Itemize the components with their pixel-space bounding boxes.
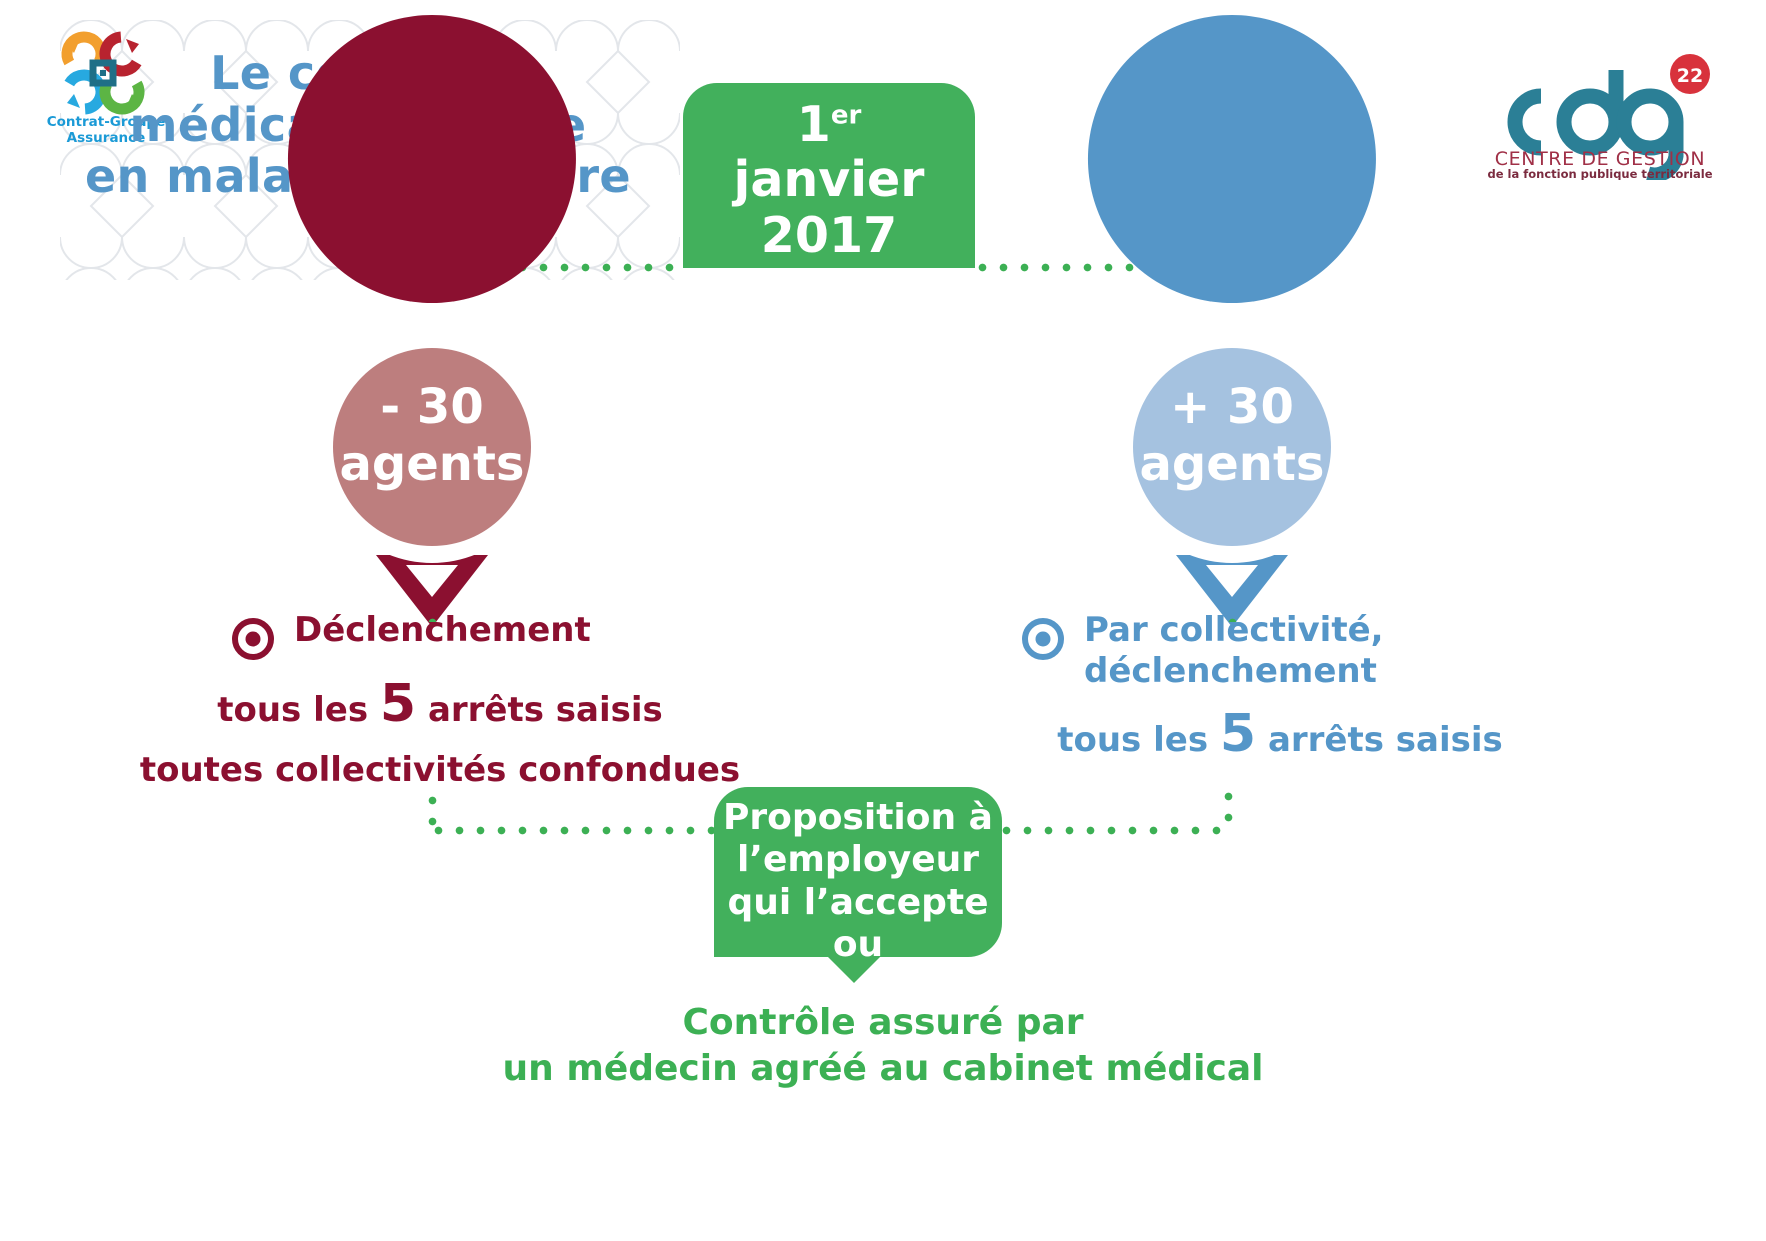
bullet-heading-right: Par collectivité, déclenchement (1084, 610, 1384, 692)
rule-suffix-left: arrêts saisis (428, 690, 663, 730)
date-year: 2017 (683, 208, 975, 263)
branch-detail-right: Par collectivité, déclenchement tous les… (960, 610, 1600, 762)
date-month: janvier (683, 152, 975, 207)
connector-bottom-right (996, 826, 1232, 835)
rule-note-left: toutes collectivités confondues (120, 749, 760, 793)
rule-suffix-right: arrêts saisis (1268, 720, 1503, 760)
proposition-callout-box: Proposition à l’employeur qui l’accepte … (714, 787, 1002, 957)
rule-prefix-right: tous les (1057, 720, 1208, 760)
cdg22-logo: 22 CENTRE DE GESTION de la fonction publ… (1478, 52, 1718, 180)
rule-line-left: tous les 5 arrêts saisis (120, 678, 760, 733)
date-day: 1 (797, 96, 831, 153)
branch-detail-left: Déclenchement tous les 5 arrêts saisis t… (120, 610, 760, 792)
target-dot-icon (230, 616, 276, 662)
proposition-box-tail (828, 957, 880, 983)
date-day-line: 1er (683, 97, 975, 152)
rule-number-left: 5 (380, 674, 416, 734)
date-day-suffix: er (831, 101, 861, 131)
pin-marker-left: - 30 agents (282, 297, 582, 637)
bullet-row-right: Par collectivité, déclenchement (960, 610, 1600, 692)
rule-prefix-left: tous les (217, 690, 368, 730)
pin-marker-right: + 30 agents (1082, 297, 1382, 637)
connector-bottom-left-drop (428, 790, 437, 830)
connector-bottom-left (428, 826, 720, 835)
rule-number-right: 5 (1220, 704, 1256, 764)
bullet-heading-left: Déclenchement (294, 610, 591, 651)
infographic-canvas: Contrat-Groupe Assurance Le contrôle méd… (0, 0, 1766, 1241)
connector-bottom-right-drop (1224, 786, 1233, 830)
date-callout-box: 1er janvier 2017 (683, 83, 975, 268)
target-dot-icon (1020, 616, 1066, 662)
pin-label-left: - 30 agents (282, 379, 582, 492)
cdg-badge-number: 22 (1677, 65, 1703, 87)
cdg-logo-line2: de la fonction publique territoriale (1487, 167, 1712, 180)
pin-label-right: + 30 agents (1082, 379, 1382, 492)
bullet-row-left: Déclenchement (120, 610, 760, 662)
footer-note: Contrôle assuré par un médecin agréé au … (0, 1000, 1766, 1092)
rule-line-right: tous les 5 arrêts saisis (960, 708, 1600, 763)
